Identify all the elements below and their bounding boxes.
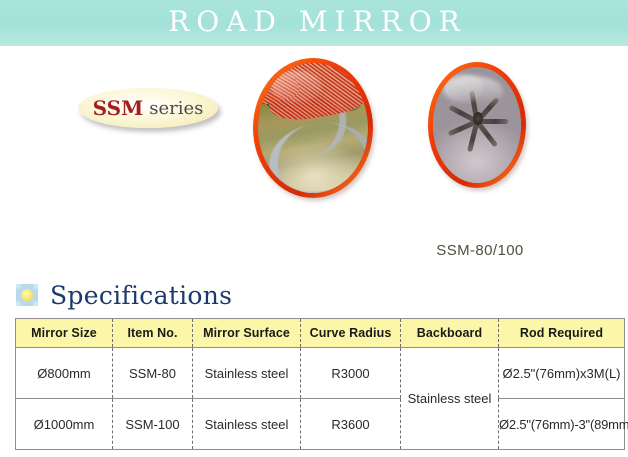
mirror-face bbox=[433, 67, 521, 183]
cell-rod-required: Ø2.5"(76mm)-3"(89mm)x3-4M(L) bbox=[499, 399, 625, 450]
column-header-curve-radius: Curve Radius bbox=[301, 319, 401, 348]
column-header-item-no: Item No. bbox=[113, 319, 193, 348]
cell-rod-required: Ø2.5"(76mm)x3M(L) bbox=[499, 348, 625, 399]
page-header-banner: ROAD MIRROR bbox=[0, 0, 628, 46]
mirror-face bbox=[258, 63, 368, 193]
cell-curve-radius: R3600 bbox=[301, 399, 401, 450]
column-header-mirror-size: Mirror Size bbox=[16, 319, 113, 348]
cell-mirror-surface: Stainless steel bbox=[193, 348, 301, 399]
badge-series-label: series bbox=[149, 98, 203, 119]
cell-mirror-size: Ø800mm bbox=[16, 348, 113, 399]
product-model-caption: SSM-80/100 bbox=[410, 242, 550, 259]
product-image-road-mirror-indoor bbox=[428, 62, 526, 188]
badge-brand-label: SSM bbox=[93, 96, 144, 120]
specifications-table: Mirror Size Item No. Mirror Surface Curv… bbox=[15, 318, 625, 450]
table-row: Ø800mm SSM-80 Stainless steel R3000 Stai… bbox=[16, 348, 625, 399]
table-row: Ø1000mm SSM-100 Stainless steel R3600 Ø2… bbox=[16, 399, 625, 450]
column-header-backboard: Backboard bbox=[401, 319, 499, 348]
specifications-title: Specifications bbox=[50, 281, 232, 310]
cell-item-no: SSM-80 bbox=[113, 348, 193, 399]
cell-item-no: SSM-100 bbox=[113, 399, 193, 450]
product-image-road-mirror-outdoor bbox=[253, 58, 373, 198]
cell-curve-radius: R3000 bbox=[301, 348, 401, 399]
ssm-series-badge: SSM series bbox=[78, 88, 218, 132]
page-title: ROAD MIRROR bbox=[161, 8, 467, 38]
reflected-hub bbox=[473, 112, 483, 125]
cell-mirror-size: Ø1000mm bbox=[16, 399, 113, 450]
product-showcase: SSM series bbox=[0, 46, 628, 271]
flower-icon bbox=[16, 284, 38, 306]
badge-text-group: SSM series bbox=[78, 88, 218, 128]
cell-mirror-surface: Stainless steel bbox=[193, 399, 301, 450]
specifications-heading: Specifications bbox=[16, 278, 232, 312]
table-header-row: Mirror Size Item No. Mirror Surface Curv… bbox=[16, 319, 625, 348]
specifications-table-wrapper: Mirror Size Item No. Mirror Surface Curv… bbox=[15, 318, 624, 450]
column-header-mirror-surface: Mirror Surface bbox=[193, 319, 301, 348]
column-header-rod-required: Rod Required bbox=[499, 319, 625, 348]
cell-backboard-merged: Stainless steel bbox=[401, 348, 499, 450]
